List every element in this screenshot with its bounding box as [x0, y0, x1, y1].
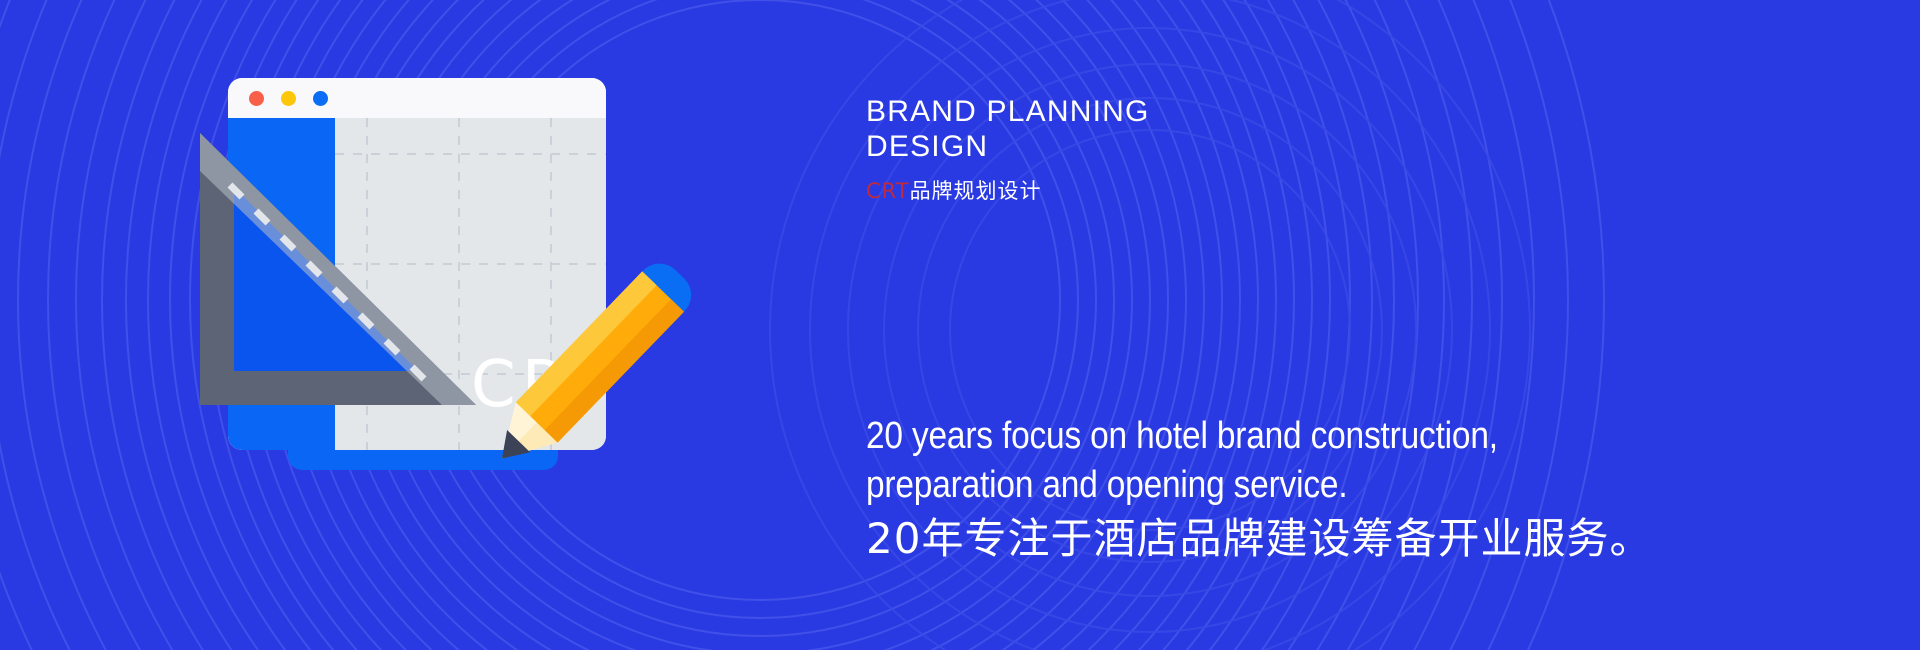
close-dot-icon	[249, 91, 264, 106]
brand-banner: CRT	[0, 0, 1920, 650]
headline-block: BRAND PLANNING DESIGN	[866, 94, 1150, 165]
headline-line-2: DESIGN	[866, 129, 1150, 164]
tagline-english: 20 years focus on hotel brand constructi…	[866, 412, 1498, 509]
headline-line-1: BRAND PLANNING	[866, 94, 1150, 129]
subtitle-text: 品牌规划设计	[910, 179, 1042, 203]
maximize-dot-icon	[313, 91, 328, 106]
subtitle-block: CRT品牌规划设计	[866, 175, 1042, 205]
tagline-chinese: 20年专注于酒店品牌建设筹备开业服务。	[866, 516, 1652, 562]
subtitle-brand: CRT	[866, 179, 910, 203]
window-title-bar	[228, 78, 606, 118]
pencil-icon	[478, 230, 698, 500]
minimize-dot-icon	[281, 91, 296, 106]
triangle-ruler-icon	[190, 123, 490, 413]
design-tools-illustration: CRT	[228, 78, 698, 478]
